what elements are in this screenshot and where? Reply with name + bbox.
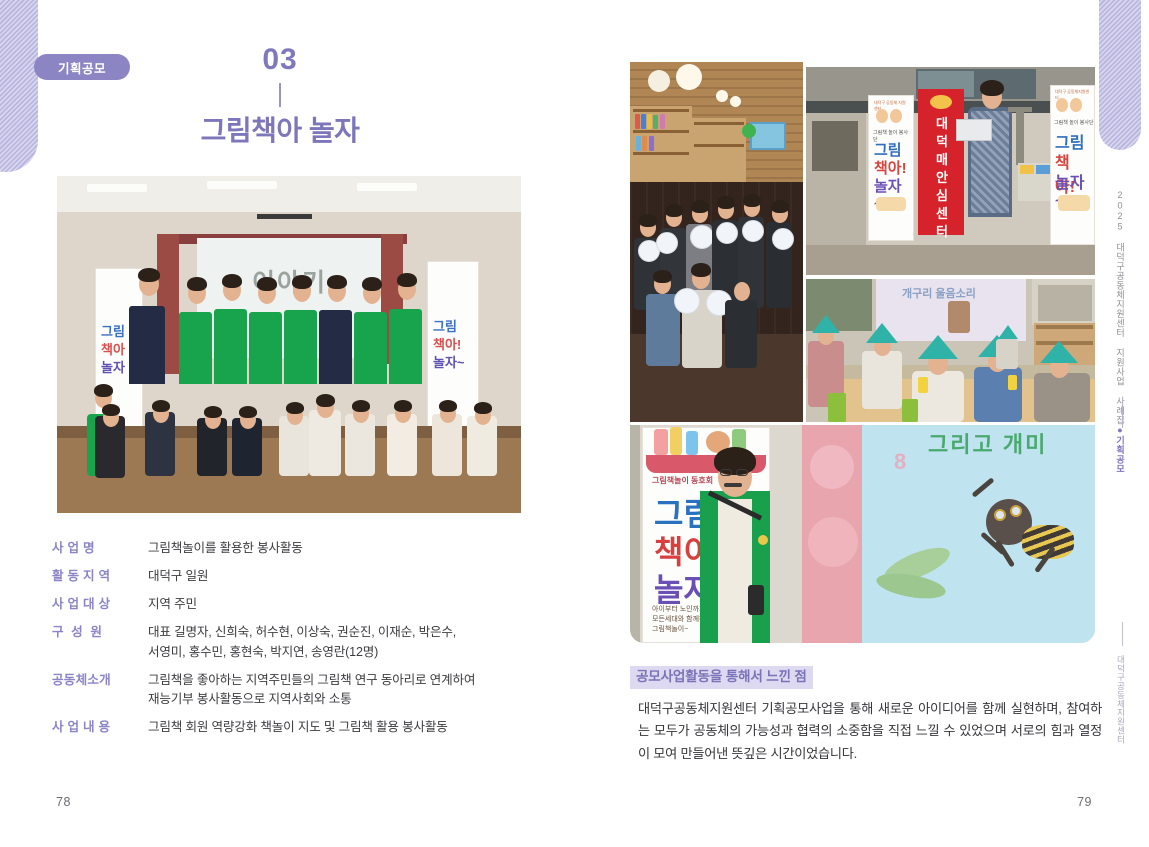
side-header-accent: 기획공모 — [1115, 436, 1125, 474]
side-rule-bottom — [1122, 622, 1123, 646]
info-row: 구 성 원 대표 길명자, 신희숙, 허수현, 이상숙, 권순진, 이재순, 박… — [52, 623, 552, 662]
info-label: 구 성 원 — [52, 623, 148, 643]
info-label: 공동체소개 — [52, 671, 148, 691]
title-divider — [279, 83, 280, 107]
info-value: 대표 길명자, 신희숙, 허수현, 이상숙, 권순진, 이재순, 박은수, 서영… — [148, 623, 552, 662]
info-label: 사 업 명 — [52, 539, 148, 559]
right-page: 대덕구 공동체 지원센터 그림책 놀이 봉사단 그림 책아! 놀자~ 대덕 매안… — [574, 0, 1149, 847]
project-info-table: 사 업 명 그림책놀이를 활용한 봉사활동 활 동 지 역 대덕구 일원 사 업… — [52, 539, 552, 746]
feedback-body: 대덕구공동체지원센터 기획공모사업을 통해 새로운 아이디어를 함께 실현하며,… — [630, 698, 1102, 766]
title-block: 03 그림책아 놀자 — [150, 44, 410, 147]
info-row: 사 업 대 상 지역 주민 — [52, 595, 552, 615]
title-number: 03 — [150, 44, 410, 76]
category-badge: 기획공모 — [34, 54, 130, 80]
left-page: 기획공모 03 그림책아 놀자 이야기 그림 책아 놀자 그림 책아! — [0, 0, 574, 847]
info-label: 사 업 대 상 — [52, 595, 148, 615]
side-footer-organization: 대덕구공동체지원센터 — [1115, 655, 1127, 744]
side-header-separator: ● — [1115, 425, 1125, 436]
main-group-photo: 이야기 그림 책아 놀자 그림 책아! 놀자~ — [57, 176, 521, 513]
info-label: 사 업 내 용 — [52, 718, 148, 738]
feedback-block: 공모사업활동을 통해서 느낀 점 대덕구공동체지원센터 기획공모사업을 통해 새… — [630, 666, 1102, 766]
info-row: 활 동 지 역 대덕구 일원 — [52, 567, 552, 587]
page-spread: 기획공모 03 그림책아 놀자 이야기 그림 책아 놀자 그림 책아! — [0, 0, 1149, 847]
info-row: 사 업 명 그림책놀이를 활용한 봉사활동 — [52, 539, 552, 559]
side-running-header: 2025 대덕구공동체지원센터 지원사업 사례집●기획공모 — [1114, 190, 1127, 474]
side-rule-top — [1122, 398, 1123, 428]
info-row: 사 업 내 용 그림책 회원 역량강화 책놀이 지도 및 그림책 활용 봉사활동 — [52, 718, 552, 738]
info-value: 대덕구 일원 — [148, 567, 552, 587]
photo-children-activity: 개구리 울음소리 — [806, 279, 1095, 422]
page-number-right: 79 — [1077, 795, 1092, 809]
side-header-prefix: 2025 대덕구공동체지원센터 지원사업 사례집 — [1115, 190, 1125, 425]
info-value: 그림책을 좋아하는 지역주민들의 그림책 연구 동아리로 연계하여 재능기부 봉… — [148, 671, 552, 710]
page-title: 그림책아 놀자 — [150, 115, 410, 147]
info-value: 그림책 회원 역량강화 책놀이 지도 및 그림책 활용 봉사활동 — [148, 718, 552, 738]
photo-library-group — [630, 62, 803, 422]
photo-presenter-banners: 대덕구 공동체 지원센터 그림책 놀이 봉사단 그림 책아! 놀자~ 대덕 매안… — [806, 67, 1095, 275]
info-label: 활 동 지 역 — [52, 567, 148, 587]
info-value: 지역 주민 — [148, 595, 552, 615]
info-row: 공동체소개 그림책을 좋아하는 지역주민들의 그림책 연구 동아리로 연계하여 … — [52, 671, 552, 710]
photo-presenter-wide: 그리고 개미 8 그림책놀이 동호회 — [630, 425, 1095, 643]
info-value: 그림책놀이를 활용한 봉사활동 — [148, 539, 552, 559]
feedback-heading: 공모사업활동을 통해서 느낀 점 — [630, 666, 813, 689]
page-number-left: 78 — [56, 795, 71, 809]
